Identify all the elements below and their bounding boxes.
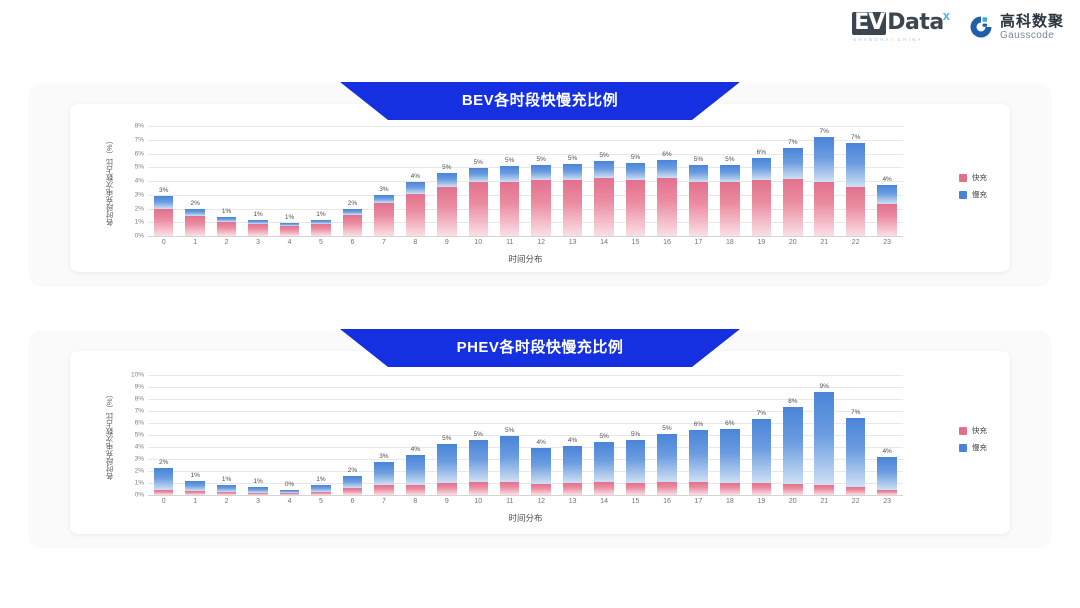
bev-x-tick: 12 [525, 239, 556, 246]
bar-stack[interactable] [469, 168, 489, 236]
bar-value-label: 4% [867, 448, 907, 455]
bar-stack[interactable] [248, 487, 268, 495]
bar-stack[interactable] [531, 165, 551, 236]
legend-swatch-icon [959, 427, 967, 435]
bar-value-label: 1% [301, 476, 341, 483]
bar-segment-fast-charge[interactable] [626, 180, 646, 236]
bar-segment-slow-charge[interactable] [594, 442, 614, 483]
bar-segment-fast-charge[interactable] [783, 179, 803, 236]
gausscode-name-en: Gausscode [1000, 30, 1064, 41]
bar-column[interactable]: 5% [714, 126, 745, 236]
bev-y-axis-labels: 0%1%2%3%4%5%6%7%8% [120, 126, 144, 236]
bar-value-label: 7% [741, 410, 781, 417]
bev-x-tick: 23 [871, 239, 902, 246]
bar-stack[interactable] [783, 148, 803, 236]
bev-x-tick: 2 [211, 239, 242, 246]
bar-stack[interactable] [689, 165, 709, 237]
bar-column[interactable]: 1% [242, 375, 273, 495]
bev-x-tick: 6 [337, 239, 368, 246]
bev-x-tick: 20 [777, 239, 808, 246]
bar-segment-slow-charge[interactable] [846, 143, 866, 186]
phev-legend: 快充慢充 [959, 425, 987, 453]
bar-column[interactable]: 1% [305, 375, 336, 495]
bar-segment-fast-charge[interactable] [752, 180, 772, 236]
bar-stack[interactable] [500, 166, 520, 236]
bev-x-axis-labels: 01234567891011121314151617181920212223 [148, 239, 903, 246]
bar-segment-slow-charge[interactable] [185, 209, 205, 217]
bar-value-label: 5% [490, 427, 530, 434]
phev-x-tick: 14 [588, 498, 619, 505]
bev-grid-line [148, 236, 903, 237]
bar-column[interactable]: 5% [620, 126, 651, 236]
bar-segment-fast-charge[interactable] [531, 180, 551, 236]
bar-stack[interactable] [814, 137, 834, 236]
phev-y-tick: 0% [135, 492, 144, 499]
bar-segment-slow-charge[interactable] [374, 195, 394, 203]
bar-stack[interactable] [563, 164, 583, 236]
bar-stack[interactable] [877, 457, 897, 495]
phev-y-tick: 7% [135, 408, 144, 415]
bar-stack[interactable] [563, 446, 583, 495]
bar-value-label: 2% [332, 200, 372, 207]
bar-column[interactable]: 3% [148, 126, 179, 236]
bar-segment-slow-charge[interactable] [406, 455, 426, 485]
bar-segment-fast-charge[interactable] [500, 482, 520, 495]
bar-segment-slow-charge[interactable] [626, 163, 646, 180]
bar-stack[interactable] [280, 223, 300, 236]
phev-x-tick: 9 [431, 498, 462, 505]
bar-stack[interactable] [626, 163, 646, 236]
bar-segment-fast-charge[interactable] [469, 482, 489, 495]
bar-segment-slow-charge[interactable] [469, 440, 489, 483]
bev-title-banner: BEV各时段快慢充比例 [340, 82, 740, 120]
bar-column[interactable]: 5% [463, 126, 494, 236]
bev-y-tick: 7% [135, 136, 144, 143]
phev-x-tick: 23 [871, 498, 902, 505]
bar-value-label: 5% [710, 156, 750, 163]
phev-x-tick: 1 [179, 498, 210, 505]
bar-segment-fast-charge[interactable] [248, 493, 268, 495]
bar-segment-slow-charge[interactable] [720, 165, 740, 182]
bar-column[interactable]: 7% [777, 126, 808, 236]
bar-segment-fast-charge[interactable] [217, 222, 237, 236]
logo-row: EV Data x SHANGHAI CHINA 高科数聚 Gausscode [852, 12, 1064, 42]
legend-item[interactable]: 慢充 [959, 189, 987, 200]
bar-value-label: 2% [144, 459, 184, 466]
bev-x-tick: 19 [746, 239, 777, 246]
bar-segment-fast-charge[interactable] [877, 204, 897, 236]
bar-column[interactable]: 4% [871, 375, 902, 495]
bev-x-tick: 4 [274, 239, 305, 246]
bar-segment-fast-charge[interactable] [374, 485, 394, 495]
gausscode-logo: 高科数聚 Gausscode [968, 14, 1064, 41]
bar-segment-slow-charge[interactable] [563, 164, 583, 180]
phev-x-tick: 16 [651, 498, 682, 505]
evdata-logo-main: EV Data x [852, 12, 950, 35]
phev-title-banner: PHEV各时段快慢充比例 [340, 329, 740, 367]
legend-item[interactable]: 快充 [959, 425, 987, 436]
bar-value-label: 6% [710, 420, 750, 427]
phev-x-tick: 11 [494, 498, 525, 505]
bar-column[interactable]: 7% [840, 375, 871, 495]
bar-segment-fast-charge[interactable] [626, 483, 646, 495]
bar-segment-fast-charge[interactable] [563, 483, 583, 495]
bar-stack[interactable] [374, 462, 394, 495]
bar-stack[interactable] [594, 442, 614, 495]
bar-column[interactable]: 6% [714, 375, 745, 495]
phev-y-axis-title: 各时段充电次数占比（%） [104, 375, 115, 495]
bar-column[interactable]: 4% [525, 375, 556, 495]
bar-stack[interactable] [154, 196, 174, 236]
bev-y-tick: 4% [135, 178, 144, 185]
bar-segment-slow-charge[interactable] [531, 165, 551, 180]
bar-segment-slow-charge[interactable] [531, 448, 551, 484]
bar-stack[interactable] [814, 392, 834, 495]
bev-x-tick: 8 [400, 239, 431, 246]
bar-segment-fast-charge[interactable] [563, 180, 583, 236]
phev-x-tick: 20 [777, 498, 808, 505]
bar-segment-slow-charge[interactable] [500, 436, 520, 482]
bar-segment-fast-charge[interactable] [374, 203, 394, 236]
bar-segment-slow-charge[interactable] [374, 462, 394, 485]
bar-value-label: 2% [175, 200, 215, 207]
bar-segment-slow-charge[interactable] [406, 182, 426, 194]
bar-stack[interactable] [406, 182, 426, 236]
bar-segment-fast-charge[interactable] [154, 490, 174, 495]
bar-segment-fast-charge[interactable] [280, 493, 300, 495]
legend-swatch-icon [959, 191, 967, 199]
bev-x-tick: 5 [305, 239, 336, 246]
bar-column[interactable]: 5% [494, 126, 525, 236]
bar-stack[interactable] [752, 158, 772, 236]
bar-column[interactable]: 2% [337, 126, 368, 236]
bar-segment-slow-charge[interactable] [437, 444, 457, 483]
bar-segment-slow-charge[interactable] [594, 161, 614, 178]
bar-column[interactable]: 3% [368, 126, 399, 236]
phev-y-axis-labels: 0%1%2%3%4%5%6%7%8%9%10% [120, 375, 144, 495]
bar-stack[interactable] [154, 468, 174, 495]
legend-swatch-icon [959, 174, 967, 182]
bar-column[interactable]: 1% [274, 126, 305, 236]
bar-column[interactable]: 4% [871, 126, 902, 236]
phev-y-tick: 1% [135, 480, 144, 487]
bar-value-label: 6% [741, 149, 781, 156]
bar-stack[interactable] [657, 160, 677, 236]
bar-value-label: 7% [836, 134, 876, 141]
bar-column[interactable]: 8% [777, 375, 808, 495]
bar-stack[interactable] [248, 220, 268, 236]
bar-stack[interactable] [720, 429, 740, 495]
bev-y-tick: 6% [135, 150, 144, 157]
bev-x-tick: 0 [148, 239, 179, 246]
bar-segment-slow-charge[interactable] [814, 137, 834, 182]
bev-y-tick: 1% [135, 219, 144, 226]
legend-item[interactable]: 快充 [959, 172, 987, 183]
phev-x-tick: 21 [809, 498, 840, 505]
bar-column[interactable]: 1% [211, 126, 242, 236]
legend-item[interactable]: 慢充 [959, 442, 987, 453]
phev-grid-line [148, 495, 903, 496]
legend-label: 快充 [972, 172, 987, 183]
bar-segment-slow-charge[interactable] [437, 173, 457, 187]
bar-segment-slow-charge[interactable] [563, 446, 583, 483]
bev-y-tick: 5% [135, 164, 144, 171]
bar-stack[interactable] [846, 418, 866, 495]
evdata-ev-mark: EV [852, 12, 886, 35]
bar-column[interactable]: 6% [651, 126, 682, 236]
bar-segment-slow-charge[interactable] [469, 168, 489, 182]
bev-x-tick: 17 [683, 239, 714, 246]
bar-segment-fast-charge[interactable] [343, 215, 363, 236]
bev-bar-group: 3%2%1%1%1%1%2%3%4%5%5%5%5%5%5%5%6%5%5%6%… [148, 126, 903, 236]
phev-x-tick: 15 [620, 498, 651, 505]
phev-bar-group: 2%1%1%1%0%1%2%3%4%5%5%5%4%4%5%5%5%6%6%7%… [148, 375, 903, 495]
bar-value-label: 9% [804, 383, 844, 390]
bar-segment-fast-charge[interactable] [720, 483, 740, 495]
bar-segment-slow-charge[interactable] [657, 434, 677, 482]
bar-segment-fast-charge[interactable] [437, 483, 457, 495]
bar-stack[interactable] [374, 195, 394, 236]
bar-segment-fast-charge[interactable] [500, 182, 520, 236]
bar-stack[interactable] [437, 444, 457, 495]
bev-x-tick: 7 [368, 239, 399, 246]
phev-x-tick: 12 [525, 498, 556, 505]
bev-x-tick: 10 [463, 239, 494, 246]
bar-column[interactable]: 2% [337, 375, 368, 495]
bar-segment-fast-charge[interactable] [689, 482, 709, 495]
phev-x-tick: 10 [463, 498, 494, 505]
bar-segment-slow-charge[interactable] [185, 481, 205, 492]
phev-chart-card: 各时段充电次数占比（%）0%1%2%3%4%5%6%7%8%9%10%2%1%1… [70, 351, 1010, 534]
bar-stack[interactable] [531, 448, 551, 495]
bar-segment-slow-charge[interactable] [689, 430, 709, 483]
phev-x-tick: 4 [274, 498, 305, 505]
bar-segment-fast-charge[interactable] [343, 488, 363, 495]
bar-segment-slow-charge[interactable] [500, 166, 520, 182]
bar-segment-slow-charge[interactable] [814, 392, 834, 485]
bev-y-axis-title: 各时段充电次数占比（%） [104, 126, 115, 236]
legend-swatch-icon [959, 444, 967, 452]
bar-segment-slow-charge[interactable] [877, 185, 897, 204]
bar-stack[interactable] [846, 143, 866, 236]
bev-x-tick: 1 [179, 239, 210, 246]
gausscode-name-cn: 高科数聚 [1000, 14, 1064, 30]
legend-label: 慢充 [972, 189, 987, 200]
bar-segment-slow-charge[interactable] [783, 407, 803, 484]
phev-y-tick: 3% [135, 456, 144, 463]
bar-segment-slow-charge[interactable] [689, 165, 709, 182]
bar-stack[interactable] [185, 481, 205, 495]
bar-column[interactable]: 5% [494, 375, 525, 495]
bar-segment-fast-charge[interactable] [185, 216, 205, 236]
phev-y-tick: 5% [135, 432, 144, 439]
bar-column[interactable]: 5% [463, 375, 494, 495]
bar-segment-fast-charge[interactable] [406, 194, 426, 236]
phev-y-tick: 6% [135, 420, 144, 427]
bar-column[interactable]: 1% [211, 375, 242, 495]
bar-stack[interactable] [783, 407, 803, 495]
phev-y-tick: 9% [135, 384, 144, 391]
bar-value-label: 8% [773, 398, 813, 405]
bar-segment-slow-charge[interactable] [752, 419, 772, 483]
phev-x-tick: 2 [211, 498, 242, 505]
bar-segment-slow-charge[interactable] [877, 457, 897, 489]
bar-segment-slow-charge[interactable] [154, 468, 174, 490]
bar-segment-slow-charge[interactable] [657, 160, 677, 179]
bar-column[interactable]: 5% [557, 126, 588, 236]
bar-stack[interactable] [657, 434, 677, 495]
phev-y-tick: 4% [135, 444, 144, 451]
bev-x-tick: 9 [431, 239, 462, 246]
bar-stack[interactable] [406, 455, 426, 495]
bar-value-label: 2% [332, 467, 372, 474]
bar-stack[interactable] [594, 161, 614, 236]
bar-value-label: 5% [616, 431, 656, 438]
bar-segment-fast-charge[interactable] [217, 492, 237, 495]
evdata-data-text: Data [887, 12, 943, 34]
bev-x-tick: 3 [242, 239, 273, 246]
bev-chart: 各时段充电次数占比（%）0%1%2%3%4%5%6%7%8%3%2%1%1%1%… [70, 104, 1010, 272]
bev-x-tick: 15 [620, 239, 651, 246]
bar-segment-fast-charge[interactable] [689, 182, 709, 236]
bar-stack[interactable] [720, 165, 740, 237]
phev-x-tick: 22 [840, 498, 871, 505]
bev-plot-area: 3%2%1%1%1%1%2%3%4%5%5%5%5%5%5%5%6%5%5%6%… [148, 126, 903, 236]
bar-stack[interactable] [217, 485, 237, 495]
bar-segment-fast-charge[interactable] [783, 484, 803, 495]
bar-column[interactable]: 5% [620, 375, 651, 495]
bar-segment-slow-charge[interactable] [154, 196, 174, 209]
legend-label: 慢充 [972, 442, 987, 453]
bar-column[interactable]: 1% [305, 126, 336, 236]
bar-segment-fast-charge[interactable] [657, 482, 677, 495]
bev-x-tick: 11 [494, 239, 525, 246]
bar-column[interactable]: 7% [809, 126, 840, 236]
bar-column[interactable]: 6% [683, 375, 714, 495]
bev-legend: 快充慢充 [959, 172, 987, 200]
bar-segment-slow-charge[interactable] [720, 429, 740, 483]
bar-segment-slow-charge[interactable] [783, 148, 803, 179]
bar-stack[interactable] [500, 436, 520, 495]
bar-column[interactable]: 5% [525, 126, 556, 236]
bev-x-tick: 16 [651, 239, 682, 246]
phev-x-tick: 5 [305, 498, 336, 505]
bar-stack[interactable] [185, 209, 205, 237]
bar-segment-fast-charge[interactable] [154, 209, 174, 236]
bar-value-label: 3% [364, 453, 404, 460]
gausscode-circle-icon [968, 14, 994, 40]
bar-segment-fast-charge[interactable] [594, 178, 614, 236]
phev-x-tick: 17 [683, 498, 714, 505]
bar-segment-slow-charge[interactable] [217, 485, 237, 492]
bar-segment-fast-charge[interactable] [248, 224, 268, 236]
bar-stack[interactable] [343, 209, 363, 237]
bar-value-label: 7% [836, 409, 876, 416]
bar-segment-slow-charge[interactable] [311, 485, 331, 492]
bar-value-label: 4% [395, 446, 435, 453]
bev-y-tick: 2% [135, 205, 144, 212]
bar-segment-fast-charge[interactable] [531, 484, 551, 495]
bar-segment-fast-charge[interactable] [280, 226, 300, 236]
bar-segment-fast-charge[interactable] [752, 483, 772, 495]
phev-chart: 各时段充电次数占比（%）0%1%2%3%4%5%6%7%8%9%10%2%1%1… [70, 351, 1010, 534]
bar-segment-fast-charge[interactable] [437, 187, 457, 236]
phev-x-tick: 19 [746, 498, 777, 505]
bar-stack[interactable] [689, 430, 709, 495]
bar-segment-fast-charge[interactable] [185, 491, 205, 495]
bar-segment-fast-charge[interactable] [406, 485, 426, 495]
bar-segment-fast-charge[interactable] [846, 187, 866, 237]
bar-stack[interactable] [311, 485, 331, 495]
phev-y-tick: 10% [131, 372, 144, 379]
bar-value-label: 3% [364, 186, 404, 193]
bar-segment-slow-charge[interactable] [846, 418, 866, 486]
gausscode-logo-text: 高科数聚 Gausscode [1000, 14, 1064, 41]
phev-x-tick: 13 [557, 498, 588, 505]
bar-stack[interactable] [437, 173, 457, 236]
bev-x-tick: 13 [557, 239, 588, 246]
bar-stack[interactable] [280, 490, 300, 495]
bar-segment-fast-charge[interactable] [814, 485, 834, 495]
bar-segment-slow-charge[interactable] [626, 440, 646, 483]
bar-column[interactable]: 4% [400, 126, 431, 236]
bar-segment-fast-charge[interactable] [311, 224, 331, 236]
bev-y-tick: 3% [135, 191, 144, 198]
bar-stack[interactable] [469, 440, 489, 495]
phev-title-text: PHEV各时段快慢充比例 [457, 336, 624, 357]
bar-stack[interactable] [752, 419, 772, 495]
bar-segment-fast-charge[interactable] [814, 182, 834, 236]
bev-x-axis-title: 时间分布 [148, 253, 903, 265]
page-header: EV Data x SHANGHAI CHINA 高科数聚 Gausscode [0, 0, 1080, 62]
bar-segment-fast-charge[interactable] [469, 182, 489, 236]
bar-segment-slow-charge[interactable] [343, 476, 363, 488]
bev-x-tick: 14 [588, 239, 619, 246]
bar-segment-fast-charge[interactable] [720, 182, 740, 236]
phev-x-tick: 18 [714, 498, 745, 505]
bar-column[interactable]: 7% [746, 375, 777, 495]
bar-stack[interactable] [877, 185, 897, 236]
bar-column[interactable]: 5% [431, 126, 462, 236]
bar-column[interactable]: 5% [683, 126, 714, 236]
bev-title-text: BEV各时段快慢充比例 [462, 89, 618, 110]
bev-x-tick: 18 [714, 239, 745, 246]
evdata-logo: EV Data x SHANGHAI CHINA [852, 12, 950, 42]
bar-segment-slow-charge[interactable] [752, 158, 772, 181]
bar-stack[interactable] [626, 440, 646, 495]
evdata-logo-subtitle: SHANGHAI CHINA [853, 37, 923, 42]
phev-x-axis-labels: 01234567891011121314151617181920212223 [148, 498, 903, 505]
bar-stack[interactable] [311, 220, 331, 236]
phev-y-tick: 8% [135, 396, 144, 403]
phev-y-tick: 2% [135, 468, 144, 475]
bar-segment-fast-charge[interactable] [594, 482, 614, 495]
bar-column[interactable]: 5% [588, 126, 619, 236]
bar-column[interactable]: 3% [368, 375, 399, 495]
bar-column[interactable]: 9% [809, 375, 840, 495]
bar-stack[interactable] [343, 476, 363, 495]
bar-segment-fast-charge[interactable] [657, 178, 677, 236]
bar-column[interactable]: 2% [179, 126, 210, 236]
bar-column[interactable]: 5% [651, 375, 682, 495]
phev-x-tick: 8 [400, 498, 431, 505]
bar-segment-fast-charge[interactable] [877, 490, 897, 495]
bar-stack[interactable] [217, 217, 237, 236]
bar-value-label: 4% [867, 176, 907, 183]
bar-segment-fast-charge[interactable] [846, 487, 866, 495]
bar-segment-fast-charge[interactable] [311, 492, 331, 495]
bev-x-tick: 21 [809, 239, 840, 246]
